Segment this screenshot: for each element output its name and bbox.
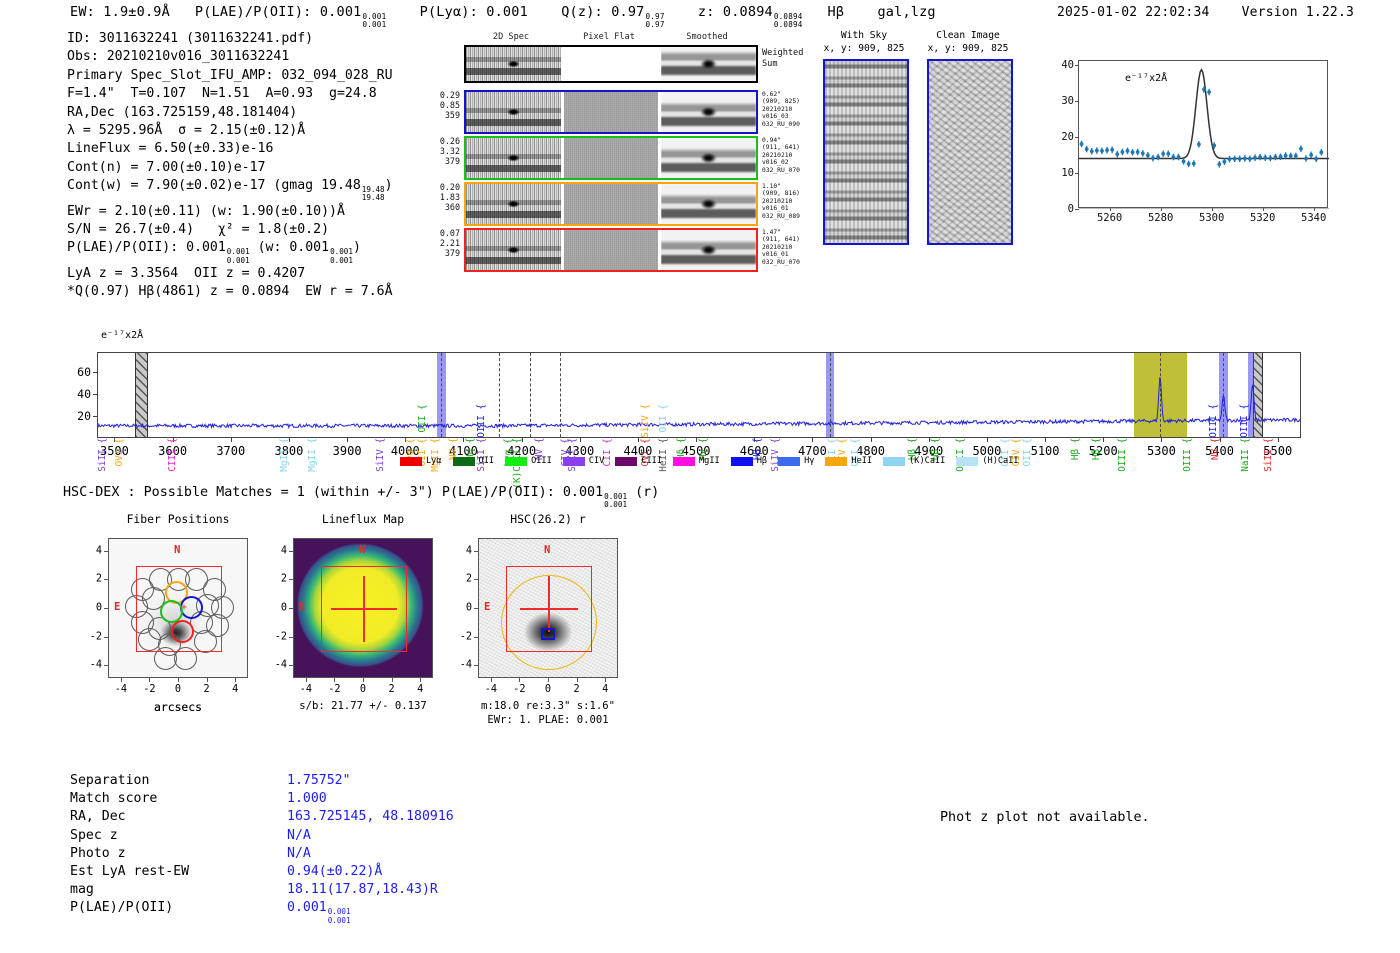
match-value-5: 0.94(±0.22)Å xyxy=(287,863,382,881)
spec2d-image-spec-3 xyxy=(466,230,561,270)
info-plae: P(LAE)/P(OII): 0.0010.0010.001 (w: 0.001… xyxy=(67,239,393,264)
spectrum-xtick-5200 xyxy=(1103,438,1104,442)
dex-xtickmark-1--2 xyxy=(334,678,335,682)
spec2d-cell-flat xyxy=(564,47,659,81)
spectrum-legend-label-CIV: CIV xyxy=(589,456,605,466)
info-cont-n: Cont(n) = 7.00(±0.10)e-17 xyxy=(67,159,393,177)
spectrum-xtick-5100 xyxy=(1045,438,1046,442)
cutout-coords-0: x, y: 909, 825 xyxy=(804,43,924,55)
dex-east-label-0: E xyxy=(114,601,120,613)
dex-xtickmark-0-2 xyxy=(207,678,208,682)
header-plae-label: P(LAE)/P(OII): 0.001 xyxy=(195,4,362,20)
info-best-solution: *Q(0.97) Hβ(4861) z = 0.0894 EW r = 7.6Å xyxy=(67,283,393,301)
emission-ytick-0 xyxy=(1075,209,1079,210)
dex-panel-title-1: Lineflux Map xyxy=(268,512,458,526)
dex-xtick-2-4: 4 xyxy=(602,684,608,695)
info-plae-errs-b: 0.0010.001 xyxy=(330,248,353,264)
dex-panel-title-0: Fiber Positions xyxy=(83,512,273,526)
dex-xtick-1--4: -4 xyxy=(300,684,312,695)
dex-xtickmark-0--4 xyxy=(121,678,122,682)
match-value-3: N/A xyxy=(287,827,311,845)
dex-ytickmark-0-2 xyxy=(104,579,108,580)
spectrum-legend-swatch-Hγ xyxy=(778,457,800,466)
dex-xtick-1--2: -2 xyxy=(328,684,340,695)
spectrum-legend-item-Hβ: Hβ xyxy=(731,456,767,466)
match-key-7: P(LAE)/P(OII) xyxy=(70,899,173,917)
dex-ytickmark-0-0 xyxy=(104,608,108,609)
spec2d-weighted-sum-row xyxy=(464,45,758,83)
spectrum-legend-label-(H)CaII: (H)CaII xyxy=(982,456,1018,466)
dex-xtick-1-2: 2 xyxy=(388,684,394,695)
spectrum-xtick-4500 xyxy=(696,438,697,442)
dex-ytickmark-1-4 xyxy=(289,551,293,552)
dex-ytick-1-4: 4 xyxy=(271,545,287,556)
spectrum-line-label-SiIV-5: SiIV { xyxy=(376,438,385,472)
spectrum-legend-item-Lyα: Lyα xyxy=(400,456,442,466)
spectrum-line-label-Hβ-38: Hβ { xyxy=(1092,438,1101,461)
dex-xtickmark-1-0 xyxy=(363,678,364,682)
spec2d-image-spec xyxy=(466,47,561,81)
spec2d-cell-smooth xyxy=(661,47,756,81)
spec2d-col-title-2: Smoothed xyxy=(677,32,737,42)
spectrum-legend-label-Hβ: Hβ xyxy=(757,456,767,466)
dex-xtickmark-0--2 xyxy=(149,678,150,682)
cutout-title-0: With Sky xyxy=(804,30,924,42)
emission-line-svg xyxy=(1079,61,1329,209)
spec2d-row-left-label-2-2: 360 xyxy=(426,203,460,213)
header-plae-errs: 0.0010.001 xyxy=(362,13,386,29)
dex-xtick-1-4: 4 xyxy=(417,684,423,695)
cutout-coords-1: x, y: 909, 825 xyxy=(908,43,1028,55)
spectrum-line-label-OIII-42: OIII { xyxy=(1209,404,1218,438)
spectrum-xtick-4800 xyxy=(871,438,872,442)
spectrum-legend-item-HeII: HeII xyxy=(825,456,872,466)
spec2d-weighted-sum-label-1: Sum xyxy=(762,59,778,70)
dex-panel-image-0: + xyxy=(108,538,248,678)
dex-xtickmark-2-4 xyxy=(605,678,606,682)
dex-xtick-0--4: -4 xyxy=(115,684,127,695)
spectrum-xtick-4400 xyxy=(638,438,639,442)
spec2d-image-spec-1 xyxy=(466,138,561,178)
spec2d-row-left-label-0-2: 359 xyxy=(426,111,460,121)
emission-line-chart: e⁻¹⁷x2Å 01020304052605280530053205340 xyxy=(1036,52,1336,237)
spectrum-legend-label-HeII: HeII xyxy=(851,456,872,466)
spectrum-line-label-NaII-43: NaII { xyxy=(1241,438,1250,472)
header-timestamp-version: 2025-01-02 22:02:34 Version 1.22.3 xyxy=(1057,5,1354,20)
match-key-4: Photo z xyxy=(70,845,126,863)
spectrum-xtick-3700 xyxy=(231,438,232,442)
spectrum-line-label-SiIV-27: SiIV { xyxy=(771,438,780,472)
match-key-2: RA, Dec xyxy=(70,808,126,826)
dex-xtick-0-4: 4 xyxy=(232,684,238,695)
info-ewr: EWr = 2.10(±0.11) (w: 1.90(±0.10))Å xyxy=(67,203,393,221)
match-value-2: 163.725145, 48.180916 xyxy=(287,808,454,826)
dex-ytickmark-2-4 xyxy=(474,551,478,552)
spectrum-legend-item-CIII: CIII xyxy=(615,456,662,466)
spectrum-legend-label-OIII: OIII xyxy=(531,456,552,466)
info-seeing: F=1.4" T=0.107 N=1.51 A=0.93 g=24.8 xyxy=(67,85,393,103)
header-ew: EW: 1.9±0.9Å xyxy=(70,4,170,20)
spec2d-image-spec-2 xyxy=(466,184,561,224)
dex-header-text: HSC-DEX : Possible Matches = 1 (within +… xyxy=(63,485,603,500)
spectrum-line-label-HeII-22: HeII { xyxy=(659,438,668,472)
spec2d-col-title-0: 2D Spec xyxy=(481,32,541,42)
spectrum-xtick-4300 xyxy=(580,438,581,442)
dex-xtickmark-2--2 xyxy=(519,678,520,682)
dex-ytick-0--2: -2 xyxy=(86,631,102,642)
match-value-1: 1.000 xyxy=(287,790,327,808)
spectrum-legend-swatch-OII xyxy=(453,457,475,466)
spectrum-ytick-40 xyxy=(93,394,97,395)
dex-ytickmark-1--2 xyxy=(289,637,293,638)
dex-north-label-0: N xyxy=(174,544,180,556)
spec2d-cell-spec-0 xyxy=(466,92,561,132)
dex-ytickmark-2-2 xyxy=(474,579,478,580)
spectrum-xtick-5500 xyxy=(1278,438,1279,442)
info-lineflux: LineFlux = 6.50(±0.33)e-16 xyxy=(67,140,393,158)
dex-header-errs: 0.0010.001 xyxy=(604,493,627,509)
dex-north-label-2: N xyxy=(544,544,550,556)
spec2d-cell-flat-2 xyxy=(564,184,659,224)
spec2d-image-smooth-3 xyxy=(661,230,756,270)
spec2d-image-flat-3 xyxy=(564,230,659,270)
spectrum-line-label-SiII-12: SiII { xyxy=(477,438,486,472)
cutout-image-sky xyxy=(823,59,909,245)
dex-xtickmark-2-2 xyxy=(577,678,578,682)
info-plae-errs-a: 0.0010.001 xyxy=(227,248,250,264)
spec2d-cell-spec xyxy=(466,47,561,81)
dex-xtickmark-1-2 xyxy=(392,678,393,682)
spectrum-line-label-OII-23: OII { xyxy=(659,404,668,432)
dex-xtickmark-0-0 xyxy=(178,678,179,682)
dex-xtick-0-2: 2 xyxy=(203,684,209,695)
spectrum-line-label-Hβ-37: Hβ { xyxy=(1071,438,1080,461)
spectrum-line-label-OVI-1: OVI { xyxy=(115,438,124,466)
lineflux-cross-h xyxy=(331,608,397,610)
spectrum-legend-item-CIV: CIV xyxy=(563,456,605,466)
spec2d-image-spec-0 xyxy=(466,92,561,132)
dex-xtickmark-0-4 xyxy=(235,678,236,682)
match-key-5: Est LyA rest-EW xyxy=(70,863,189,881)
spec2d-exposure-row-0 xyxy=(464,90,758,134)
dex-header-filter: (r) xyxy=(635,485,659,500)
spectrum-line-label-MgII-4: MgII { xyxy=(308,438,317,472)
dex-ytickmark-1-2 xyxy=(289,579,293,580)
spectrum-legend-swatch-(K)CaII xyxy=(883,457,905,466)
match-value-7: 0.0010.0010.001 xyxy=(287,899,351,924)
timestamp: 2025-01-02 22:02:34 xyxy=(1057,5,1210,20)
spec2d-image-smooth xyxy=(661,47,756,81)
dex-east-label-1: E xyxy=(299,601,305,613)
header-linetype: Hβ xyxy=(828,4,845,20)
spectrum-legend-item-Hγ: Hγ xyxy=(778,456,814,466)
spec2d-exposure-row-1 xyxy=(464,136,758,180)
dex-north-label-1: N xyxy=(359,544,365,556)
spectrum-line-label-SiIV-21: SiIV { xyxy=(641,404,650,438)
match-value-4: N/A xyxy=(287,845,311,863)
spec2d-image-flat-1 xyxy=(564,138,659,178)
header-z: z: 0.0894 xyxy=(698,4,773,20)
spec2d-image-flat xyxy=(564,47,659,81)
dex-ytickmark-0-4 xyxy=(104,551,108,552)
info-primary-spec: Primary Spec_Slot_IFU_AMP: 032_094_028_R… xyxy=(67,67,393,85)
spectrum-line-label-OIII-39: OIII { xyxy=(1118,438,1127,472)
cutout-image-clean xyxy=(927,59,1013,245)
cutout-texture-1 xyxy=(929,61,1011,243)
cutout-panel: With Skyx, y: 909, 825Clean Imagex, y: 9… xyxy=(815,30,1030,260)
info-snr-chi2: S/N = 26.7(±0.4) χ² = 1.8(±0.2) xyxy=(67,221,393,239)
spectrum-line-label-OIII-44: OIII { xyxy=(1240,404,1249,438)
spectrum-legend-label-(K)CaII: (K)CaII xyxy=(909,456,945,466)
dex-ytickmark-0--4 xyxy=(104,665,108,666)
match-value-0: 1.75752" xyxy=(287,772,351,790)
dex-ytickmark-2--4 xyxy=(474,665,478,666)
spec2d-exposure-row-2 xyxy=(464,182,758,226)
header-plya: P(Lyα): 0.001 xyxy=(420,4,528,20)
spectrum-legend-swatch-CIII xyxy=(615,457,637,466)
hsc-cross-h xyxy=(520,608,577,610)
spec2d-row-left-label-1-2: 379 xyxy=(426,157,460,167)
spectrum-line-label-MgII-9: MgII { xyxy=(431,438,440,472)
dex-ytick-1--2: -2 xyxy=(271,631,287,642)
dex-xtickmark-1--4 xyxy=(306,678,307,682)
spectrum-line-label-OIII-13: OIII { xyxy=(477,404,486,438)
spectrum-line-label-SiII-0: SiII { xyxy=(98,438,107,472)
spectrum-line-label-OIII-40: OIII { xyxy=(1183,438,1192,472)
hsc-blue-marker xyxy=(541,628,555,640)
match-key-6: mag xyxy=(70,881,94,899)
fiber-center-marker: + xyxy=(181,605,187,611)
dex-ytick-0-4: 4 xyxy=(86,545,102,556)
dex-ytick-2--2: -2 xyxy=(456,631,472,642)
spectrum-legend-swatch-OIII xyxy=(505,457,527,466)
dex-ytickmark-0--2 xyxy=(104,637,108,638)
info-radec: RA,Dec (163.725159,48.181404) xyxy=(67,104,393,122)
hsc-cross-v xyxy=(548,576,550,632)
spectrum-trace-svg xyxy=(98,353,1301,438)
dex-panels: Fiber Positions+-4-4-2-2002244NEarcsecsL… xyxy=(40,512,660,742)
spec2d-cell-spec-1 xyxy=(466,138,561,178)
spectrum-legend-label-OII: OII xyxy=(479,456,495,466)
dex-ytickmark-1-0 xyxy=(289,608,293,609)
spectrum-line-label-SiII-45: SiII { xyxy=(1264,438,1273,472)
dex-header: HSC-DEX : Possible Matches = 1 (within +… xyxy=(63,485,659,509)
header-qz: Q(z): 0.97 xyxy=(561,4,644,20)
photz-unavailable-message: Phot z plot not available. xyxy=(940,810,1150,825)
dex-xtick-2--2: -2 xyxy=(513,684,525,695)
dex-ytick-2-0: 0 xyxy=(456,603,472,614)
dex-ytickmark-2-0 xyxy=(474,608,478,609)
spec2d-panel: 2D SpecPixel FlatSmoothedWeightedSum0.29… xyxy=(428,32,758,257)
dex-panel-image-2 xyxy=(478,538,618,678)
dex-ytick-2--4: -4 xyxy=(456,660,472,671)
spectrum-legend-label-CIII: CIII xyxy=(641,456,662,466)
dex-ytick-2-2: 2 xyxy=(456,574,472,585)
spectrum-line-label-OIII-33: OIII { xyxy=(956,438,965,472)
spectrum-legend-item-(H)CaII: (H)CaII xyxy=(956,456,1018,466)
info-obs: Obs: 20210210v016_3011632241 xyxy=(67,48,393,66)
header-summary: EW: 1.9±0.9Å P(LAE)/P(OII): 0.0010.0010.… xyxy=(70,4,936,29)
dex-xtick-0--2: -2 xyxy=(143,684,155,695)
dex-xtickmark-1-4 xyxy=(420,678,421,682)
spec2d-cell-spec-2 xyxy=(466,184,561,224)
version-label: Version 1.22.3 xyxy=(1242,5,1354,20)
dex-panel-title-2: HSC(26.2) r xyxy=(453,512,643,526)
spectrum-legend-label-MgII: MgII xyxy=(699,456,720,466)
spectrum-line-label-OII-36: OII { xyxy=(1023,438,1032,466)
gmag-errs: 19.4819.48 xyxy=(362,186,385,202)
spec2d-row-left-label-3-2: 379 xyxy=(426,249,460,259)
spectrum-legend-swatch-CIV xyxy=(563,457,585,466)
spec2d-image-smooth-1 xyxy=(661,138,756,178)
spec2d-cell-flat-3 xyxy=(564,230,659,270)
spectrum-plot-frame xyxy=(97,352,1301,438)
spec2d-weighted-sum-label-0: Weighted xyxy=(762,48,803,59)
dex-xtick-1-0: 0 xyxy=(360,684,366,695)
header-z-errs: 0.08940.0894 xyxy=(774,13,803,29)
dex-caption2-2: EWr: 1. PLAE: 0.001 xyxy=(428,714,668,726)
info-redshifts: LyA z = 3.3564 OII z = 0.4207 xyxy=(67,265,393,283)
spec2d-cell-smooth-2 xyxy=(661,184,756,224)
dex-ytick-2-4: 4 xyxy=(456,545,472,556)
spectrum-legend-item-MgII: MgII xyxy=(673,456,720,466)
spectrum-legend-swatch-Hβ xyxy=(731,457,753,466)
info-wavelength: λ = 5295.96Å σ = 2.15(±0.12)Å xyxy=(67,122,393,140)
dex-ytick-0-2: 2 xyxy=(86,574,102,585)
spectrum-legend-swatch-(H)CaII xyxy=(956,457,978,466)
spec2d-cell-smooth-1 xyxy=(661,138,756,178)
info-cont-w: Cont(w) = 7.90(±0.02)e-17 (gmag 19.4819.… xyxy=(67,177,393,202)
match-plae-errs: 0.0010.001 xyxy=(328,908,351,924)
spec2d-exposure-row-3 xyxy=(464,228,758,272)
spectrum-legend-label-Lyα: Lyα xyxy=(426,456,442,466)
spectrum-legend-swatch-HeII xyxy=(825,457,847,466)
info-id: ID: 3011632241 (3011632241.pdf) xyxy=(67,30,393,48)
spectrum-line-label-OII-8: OII { xyxy=(418,404,427,432)
spectrum-ytick-60 xyxy=(93,372,97,373)
dex-ytick-1-0: 0 xyxy=(271,603,287,614)
cutout-title-1: Clean Image xyxy=(908,30,1028,42)
spec2d-image-flat-0 xyxy=(564,92,659,132)
spectrum-xtick-4700 xyxy=(812,438,813,442)
header-classes: gal,lzg xyxy=(877,4,935,20)
spectrum-line-label-SiII-18: SiII { xyxy=(568,438,577,472)
dex-ytick-1-2: 2 xyxy=(271,574,287,585)
spectrum-ytick-20 xyxy=(93,416,97,417)
spectrum-unit-label: e⁻¹⁷x2Å xyxy=(101,330,143,341)
dex-xtickmark-2--4 xyxy=(491,678,492,682)
match-key-1: Match score xyxy=(70,790,157,808)
dex-arcsecs-label: arcsecs xyxy=(154,700,202,714)
spec2d-cell-smooth-3 xyxy=(661,230,756,270)
spec2d-cell-flat-1 xyxy=(564,138,659,178)
dex-east-label-2: E xyxy=(484,601,490,613)
dex-xtick-2-0: 0 xyxy=(545,684,551,695)
header-qz-errs: 0.970.97 xyxy=(646,13,665,29)
emission-line-plot-frame: e⁻¹⁷x2Å 01020304052605280530053205340 xyxy=(1078,60,1328,208)
spectrum-line-label-MgII-3: MgII { xyxy=(280,438,289,472)
cutout-texture-0 xyxy=(825,61,907,243)
spec2d-cell-spec-3 xyxy=(466,230,561,270)
match-value-6: 18.11(17.87,18.43)R xyxy=(287,881,438,899)
spec2d-cell-flat-0 xyxy=(564,92,659,132)
spec2d-image-smooth-2 xyxy=(661,184,756,224)
fiber-red-box xyxy=(136,566,222,652)
spec2d-image-smooth-0 xyxy=(661,92,756,132)
spectrum-legend-item-(K)CaII: (K)CaII xyxy=(883,456,945,466)
match-key-0: Separation xyxy=(70,772,149,790)
spectrum-legend-item-OIII: OIII xyxy=(505,456,552,466)
spectrum-legend: LyαOIIOIIICIVCIIIMgIIHβHγHeII(K)CaII(H)C… xyxy=(400,456,1019,466)
spec2d-image-flat-2 xyxy=(564,184,659,224)
dex-ytickmark-2--2 xyxy=(474,637,478,638)
dex-ytick-0-0: 0 xyxy=(86,603,102,614)
dex-caption1-2: m:18.0 re:3.3" s:1.6" xyxy=(428,700,668,712)
dex-panel-image-1 xyxy=(293,538,433,678)
dex-ytick-1--4: -4 xyxy=(271,660,287,671)
dex-ytick-0--4: -4 xyxy=(86,660,102,671)
object-info-block: ID: 3011632241 (3011632241.pdf) Obs: 202… xyxy=(67,30,393,302)
spectrum-xtick-5300 xyxy=(1161,438,1162,442)
spectrum-xtick-3900 xyxy=(347,438,348,442)
spectrum-line-label-CIII-2: CIII { xyxy=(168,438,177,472)
match-key-3: Spec z xyxy=(70,827,118,845)
dex-xtick-2-2: 2 xyxy=(573,684,579,695)
spec2d-col-title-1: Pixel Flat xyxy=(579,32,639,42)
spectrum-xtick-5000 xyxy=(987,438,988,442)
spectrum-line-label-NV-41: NV { xyxy=(1211,438,1220,461)
spectrum-legend-swatch-MgII xyxy=(673,457,695,466)
dex-ytickmark-1--4 xyxy=(289,665,293,666)
dex-xtick-0-0: 0 xyxy=(175,684,181,695)
spectrum-legend-label-Hγ: Hγ xyxy=(804,456,814,466)
full-spectrum-chart: e⁻¹⁷x2Å 20406035003600370038003900400041… xyxy=(97,352,1301,438)
spectrum-legend-item-OII: OII xyxy=(453,456,495,466)
spec2d-cell-smooth-0 xyxy=(661,92,756,132)
dex-xtick-2--4: -4 xyxy=(485,684,497,695)
dex-xtickmark-2-0 xyxy=(548,678,549,682)
spectrum-legend-swatch-Lyα xyxy=(400,457,422,466)
